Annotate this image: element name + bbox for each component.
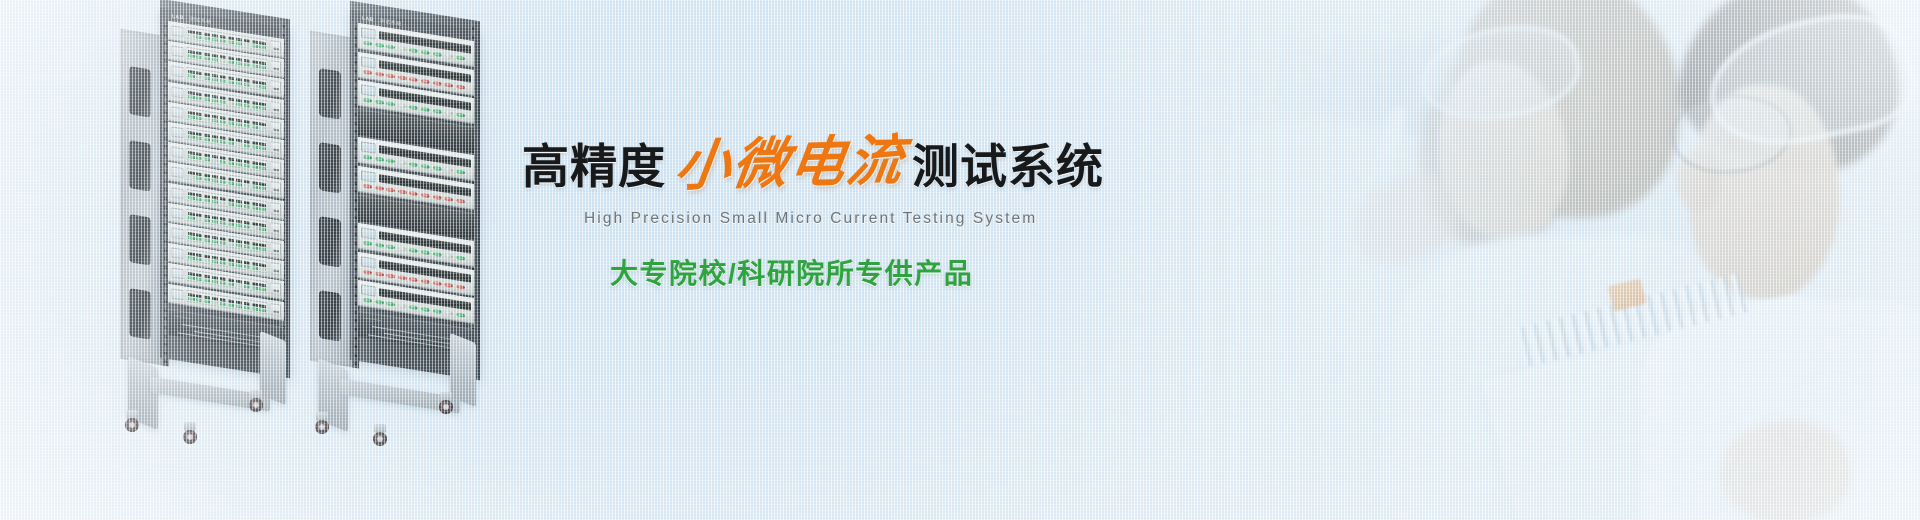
module-display xyxy=(171,46,184,58)
module-connector xyxy=(270,141,281,155)
rail-hole xyxy=(164,317,167,320)
rail-hole xyxy=(164,111,167,114)
status-led xyxy=(228,81,235,84)
status-led xyxy=(252,85,259,88)
module-display xyxy=(171,86,184,98)
instrument-indicator xyxy=(421,278,430,284)
rail-hole xyxy=(354,27,357,30)
status-led xyxy=(212,119,219,122)
module-connector xyxy=(270,202,281,216)
instrument-indicator xyxy=(398,46,407,52)
rail-hole xyxy=(472,35,475,38)
instrument-indicator xyxy=(386,273,395,279)
status-led xyxy=(244,124,251,127)
rail-hole xyxy=(164,162,167,165)
rail-hole xyxy=(282,25,285,28)
caster-wheel xyxy=(314,412,330,434)
segment-display xyxy=(244,99,251,103)
rack-vent-slot xyxy=(129,288,151,339)
status-led xyxy=(252,266,259,269)
instrument-indicator xyxy=(386,301,395,307)
rail-hole xyxy=(472,27,475,30)
equipment-racks: LAB 测试系统 ▪▪▪▪▪▪▪▪▪▪▪▪ xyxy=(0,0,560,520)
instrument-indicator xyxy=(386,44,395,50)
status-led xyxy=(212,78,219,81)
product-banner: LAB 测试系统 ▪▪▪▪▪▪▪▪▪▪▪▪ xyxy=(0,0,1920,520)
module-connector xyxy=(270,303,281,317)
status-led xyxy=(196,177,203,180)
module-connector xyxy=(270,161,281,175)
status-led xyxy=(259,248,266,251)
instrument-indicator xyxy=(409,248,418,254)
module-display xyxy=(171,227,184,239)
status-led xyxy=(188,34,195,37)
instrument-indicator xyxy=(398,74,407,80)
status-led xyxy=(228,101,235,104)
module-display xyxy=(171,187,184,199)
instrument-indicator xyxy=(375,185,384,191)
status-led xyxy=(212,99,219,102)
rail-hole xyxy=(354,147,357,150)
instrument-indicator xyxy=(444,167,453,173)
rail-hole xyxy=(164,68,167,71)
status-led xyxy=(252,186,259,189)
status-led xyxy=(228,283,235,286)
segment-display xyxy=(204,194,211,198)
instrument-indicator xyxy=(456,83,465,89)
rail-hole xyxy=(164,145,167,148)
rail-hole xyxy=(164,248,167,251)
segment-display xyxy=(259,304,266,308)
module-connector xyxy=(270,262,281,276)
segment-display xyxy=(259,102,266,106)
instrument-indicator xyxy=(409,305,418,311)
rack-right: LAB 测试系统 ▪▪▪▪▪▪▪▪▪▪▪▪ xyxy=(310,20,485,418)
status-led xyxy=(196,136,203,139)
module-display xyxy=(171,268,184,280)
caster-wheel xyxy=(248,390,264,412)
rail-hole xyxy=(164,102,167,105)
module-display xyxy=(171,126,184,138)
status-led xyxy=(204,158,211,161)
status-led xyxy=(228,61,235,64)
status-led xyxy=(212,38,219,41)
rail-hole xyxy=(354,276,357,279)
instrument-indicator xyxy=(386,244,395,250)
instrument-indicator xyxy=(363,69,372,75)
status-led xyxy=(204,37,211,40)
instrument-indicator xyxy=(398,189,407,195)
status-led xyxy=(204,219,211,222)
status-led xyxy=(259,167,266,170)
instrument-indicator xyxy=(444,53,453,59)
instrument-indicator xyxy=(409,48,418,54)
module-connector xyxy=(270,60,281,74)
module-connector xyxy=(270,242,281,256)
status-led xyxy=(196,237,203,240)
status-led xyxy=(244,265,251,268)
status-led xyxy=(244,245,251,248)
instrument-indicator xyxy=(421,192,430,198)
segment-display xyxy=(204,93,211,97)
rail-hole xyxy=(354,259,357,262)
banner-text-block: 高精度 小微电流 测试系统 High Precision Small Micro… xyxy=(522,128,1242,292)
instrument-indicator xyxy=(433,280,442,286)
instrument-indicator xyxy=(375,156,384,162)
status-led xyxy=(196,96,203,99)
segment-display xyxy=(228,299,235,303)
status-led xyxy=(236,264,243,267)
status-led xyxy=(220,261,227,264)
rail-hole xyxy=(354,362,357,365)
status-led xyxy=(236,183,243,186)
status-led xyxy=(188,236,195,239)
status-led xyxy=(236,82,243,85)
rail-hole xyxy=(354,113,357,116)
instrument-indicator xyxy=(444,110,453,116)
status-led xyxy=(252,226,259,229)
instrument-indicator xyxy=(386,187,395,193)
status-led xyxy=(220,100,227,103)
instrument-indicator xyxy=(421,250,430,256)
status-led xyxy=(244,164,251,167)
segment-display xyxy=(244,301,251,305)
instrument-indicator xyxy=(386,158,395,164)
status-led xyxy=(228,243,235,246)
status-led xyxy=(188,176,195,179)
status-led xyxy=(236,244,243,247)
status-led xyxy=(196,217,203,220)
rail-hole xyxy=(354,164,357,167)
rail-hole xyxy=(164,205,167,208)
caster-wheel xyxy=(372,424,388,446)
status-led xyxy=(220,181,227,184)
instrument-indicator xyxy=(444,253,453,259)
status-led xyxy=(259,288,266,291)
rail-hole xyxy=(354,182,357,185)
status-led xyxy=(236,163,243,166)
status-led xyxy=(188,75,195,78)
status-led xyxy=(204,57,211,60)
module-display xyxy=(171,66,184,78)
instrument-indicator xyxy=(456,198,465,204)
rail-hole xyxy=(164,25,167,28)
caster-wheel xyxy=(124,410,140,432)
status-led xyxy=(259,207,266,210)
status-led xyxy=(196,76,203,79)
instrument-indicator xyxy=(375,42,384,48)
module-display xyxy=(171,25,184,37)
module-display xyxy=(171,167,184,179)
status-led xyxy=(196,298,203,301)
status-led xyxy=(228,263,235,266)
status-led xyxy=(188,54,195,57)
instrument-indicator xyxy=(363,155,372,161)
status-led xyxy=(220,241,227,244)
status-led xyxy=(244,83,251,86)
rail-hole xyxy=(164,223,167,226)
rail-hole xyxy=(354,302,357,305)
rack-vent-slot xyxy=(129,214,151,265)
status-led xyxy=(244,43,251,46)
instrument-indicator xyxy=(409,191,418,197)
rail-hole xyxy=(164,300,167,303)
status-led xyxy=(220,140,227,143)
segment-display xyxy=(188,90,195,94)
instrument-indicator xyxy=(398,274,407,280)
rail-hole xyxy=(354,156,357,159)
instrument-display xyxy=(361,256,376,269)
rail-hole xyxy=(164,197,167,200)
status-led xyxy=(196,197,203,200)
segment-display xyxy=(196,294,203,298)
rail-hole xyxy=(354,293,357,296)
status-led xyxy=(212,159,219,162)
rail-hole xyxy=(164,309,167,312)
instrument-indicator xyxy=(456,112,465,118)
status-led xyxy=(196,258,203,261)
module-connector xyxy=(270,182,281,196)
status-led xyxy=(252,206,259,209)
headline-emphasis: 小微电流 xyxy=(672,132,908,193)
instrument-indicator xyxy=(444,82,453,88)
status-led xyxy=(204,299,211,302)
status-led xyxy=(204,138,211,141)
subtitle-chinese: 大专院校/科研院所专供产品 xyxy=(610,252,1242,292)
rail-hole xyxy=(282,33,285,36)
module-connector xyxy=(270,101,281,115)
status-led xyxy=(220,120,227,123)
segment-display xyxy=(252,302,259,306)
status-led xyxy=(228,222,235,225)
instrument-indicator xyxy=(456,169,465,175)
instrument-indicator xyxy=(421,49,430,55)
segment-display xyxy=(212,195,219,199)
instrument-indicator xyxy=(433,309,442,315)
status-led xyxy=(212,200,219,203)
rail-hole xyxy=(164,51,167,54)
status-led xyxy=(259,227,266,230)
status-led xyxy=(259,308,266,311)
instrument-indicator xyxy=(456,255,465,261)
rack-brand-label: LAB xyxy=(362,15,374,23)
status-led xyxy=(220,80,227,83)
instrument-indicator xyxy=(363,269,372,275)
status-led xyxy=(244,144,251,147)
status-led xyxy=(259,187,266,190)
instrument-indicator xyxy=(433,251,442,257)
status-led xyxy=(259,46,266,49)
rail-hole xyxy=(164,94,167,97)
segment-display xyxy=(228,97,235,101)
status-led xyxy=(252,145,259,148)
rail-hole xyxy=(354,199,357,202)
module-display xyxy=(171,147,184,159)
segment-display xyxy=(188,292,195,296)
module-connector xyxy=(270,121,281,135)
status-led xyxy=(236,42,243,45)
status-led xyxy=(220,221,227,224)
segment-display xyxy=(204,295,211,299)
status-led xyxy=(220,160,227,163)
status-led xyxy=(244,205,251,208)
segment-display xyxy=(220,95,227,99)
status-led xyxy=(252,307,259,310)
module-connector xyxy=(270,81,281,95)
rail-hole xyxy=(164,214,167,217)
instrument-indicator xyxy=(409,76,418,82)
rail-hole xyxy=(354,345,357,348)
rail-hole xyxy=(164,334,167,337)
status-led xyxy=(252,64,259,67)
status-led xyxy=(220,282,227,285)
status-led xyxy=(188,95,195,98)
status-led xyxy=(228,182,235,185)
instrument-indicator xyxy=(444,196,453,202)
caster-wheel xyxy=(438,392,454,414)
instrument-indicator xyxy=(433,166,442,172)
status-led xyxy=(259,147,266,150)
rail-hole xyxy=(164,274,167,277)
status-led xyxy=(188,256,195,259)
instrument-indicator xyxy=(363,183,372,189)
status-led xyxy=(236,123,243,126)
status-led xyxy=(244,184,251,187)
rack-vent-slot xyxy=(319,68,341,119)
instrument-indicator xyxy=(398,160,407,166)
instrument-indicator xyxy=(444,310,453,316)
rail-hole xyxy=(354,130,357,133)
instrument-indicator xyxy=(433,80,442,86)
rail-hole xyxy=(354,173,357,176)
status-led xyxy=(212,139,219,142)
subtitle-english: High Precision Small Micro Current Testi… xyxy=(584,210,1242,228)
instrument-indicator xyxy=(363,40,372,46)
instrument-indicator xyxy=(386,72,395,78)
status-led xyxy=(188,277,195,280)
segment-display xyxy=(196,193,203,197)
segment-display xyxy=(236,98,243,102)
rail-hole xyxy=(164,33,167,36)
segment-display xyxy=(212,94,219,98)
segment-display xyxy=(220,297,227,301)
status-led xyxy=(188,196,195,199)
rail-hole xyxy=(164,59,167,62)
segment-display xyxy=(244,200,251,204)
module-display xyxy=(171,106,184,118)
rail-hole xyxy=(164,231,167,234)
status-led xyxy=(220,201,227,204)
instrument-indicator xyxy=(398,303,407,309)
rail-hole xyxy=(354,242,357,245)
instrument-indicator xyxy=(456,312,465,318)
status-led xyxy=(188,115,195,118)
rail-hole xyxy=(354,53,357,56)
rack-vent-slot xyxy=(319,290,341,341)
rail-hole xyxy=(164,180,167,183)
rail-hole xyxy=(354,233,357,236)
module-display xyxy=(171,248,184,260)
rail-hole xyxy=(354,225,357,228)
cable-panel-label: ▪▪▪▪▪▪▪▪▪▪▪▪ xyxy=(174,314,192,321)
status-led xyxy=(212,260,219,263)
instrument-indicator xyxy=(363,298,372,304)
rail-hole xyxy=(354,311,357,314)
status-led xyxy=(252,44,259,47)
segment-display xyxy=(188,191,195,195)
segment-display xyxy=(196,92,203,96)
rack-left-side-panel xyxy=(120,29,162,366)
module-display xyxy=(171,288,184,300)
status-led xyxy=(236,62,243,65)
rail-hole xyxy=(164,352,167,355)
status-led xyxy=(220,59,227,62)
status-led xyxy=(252,105,259,108)
status-led xyxy=(228,202,235,205)
status-led xyxy=(212,301,219,304)
status-led xyxy=(228,121,235,124)
instrument-indicator xyxy=(433,51,442,57)
status-led xyxy=(236,224,243,227)
rail-hole xyxy=(354,207,357,210)
rail-hole xyxy=(354,354,357,357)
rail-hole xyxy=(164,266,167,269)
rail-hole xyxy=(354,35,357,38)
status-led xyxy=(259,268,266,271)
status-led xyxy=(220,302,227,305)
rail-hole xyxy=(354,61,357,64)
status-led xyxy=(244,285,251,288)
status-led xyxy=(196,157,203,160)
rail-hole xyxy=(164,188,167,191)
status-led xyxy=(212,240,219,243)
rack-vent-slot xyxy=(319,216,341,267)
rail-hole xyxy=(354,268,357,271)
segment-display xyxy=(220,196,227,200)
instrument-display xyxy=(361,56,376,69)
caster-wheel xyxy=(182,422,198,444)
status-led xyxy=(252,246,259,249)
instrument-indicator xyxy=(409,162,418,168)
instrument-indicator xyxy=(363,240,372,246)
status-led xyxy=(252,125,259,128)
rack-vent-slot xyxy=(129,66,151,117)
rail-hole xyxy=(354,319,357,322)
status-led xyxy=(228,41,235,44)
rail-hole xyxy=(354,70,357,73)
instrument-indicator xyxy=(421,78,430,84)
instrument-indicator xyxy=(398,246,407,252)
status-led xyxy=(236,284,243,287)
segment-display xyxy=(252,201,259,205)
status-led xyxy=(259,126,266,129)
instrument-indicator xyxy=(409,105,418,111)
rail-hole xyxy=(164,240,167,243)
instrument-indicator xyxy=(421,307,430,313)
status-led xyxy=(204,77,211,80)
status-led xyxy=(196,35,203,38)
status-led xyxy=(236,203,243,206)
instrument-indicator xyxy=(409,276,418,282)
rail-hole xyxy=(354,285,357,288)
status-led xyxy=(196,116,203,119)
page-title: 高精度 小微电流 测试系统 xyxy=(522,128,1242,190)
status-led xyxy=(196,56,203,59)
module-connector xyxy=(270,222,281,236)
segment-display xyxy=(236,300,243,304)
rail-hole xyxy=(164,326,167,329)
status-led xyxy=(204,118,211,121)
